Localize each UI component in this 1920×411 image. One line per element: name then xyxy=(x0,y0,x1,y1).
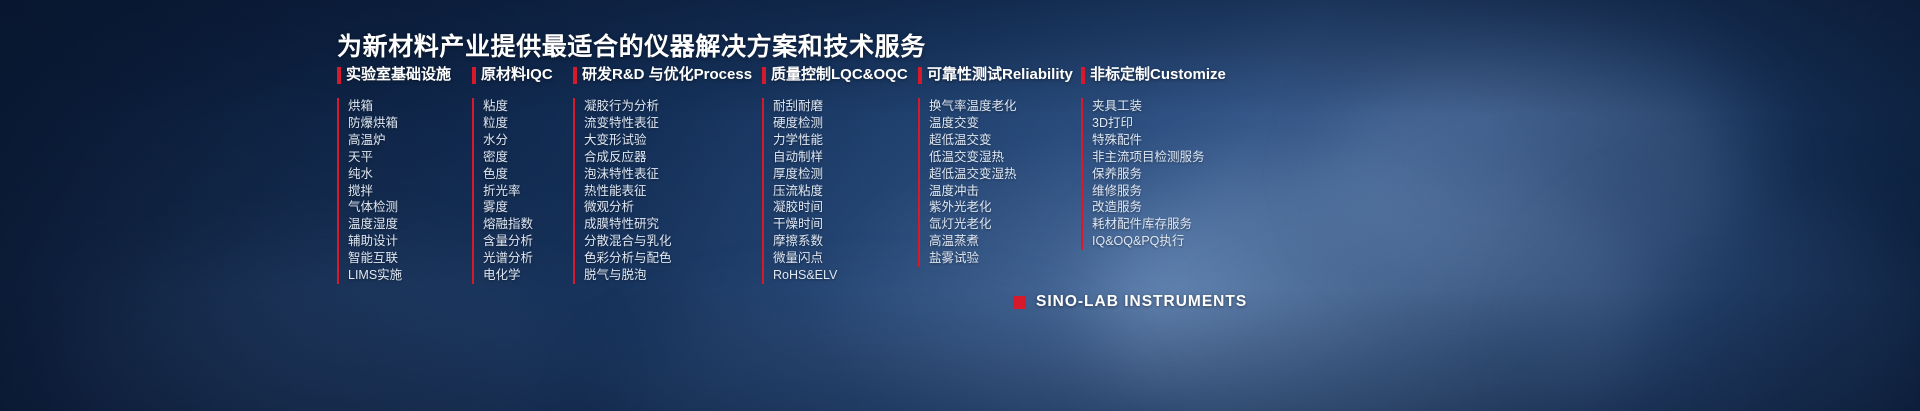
list-item[interactable]: 氙灯光老化 xyxy=(929,216,1081,233)
list-item[interactable]: 特殊配件 xyxy=(1092,132,1261,149)
list-item[interactable]: 保养服务 xyxy=(1092,166,1261,183)
category-column-quality-control: 质量控制LQC&OQC 耐刮耐磨 硬度检测 力学性能 自动制样 厚度检测 压流粘… xyxy=(762,66,918,284)
list-item[interactable]: LIMS实施 xyxy=(348,267,472,284)
category-column-customize: 非标定制Customize 夹具工装 3D打印 特殊配件 非主流项目检测服务 保… xyxy=(1081,66,1261,284)
list-item[interactable]: 热性能表征 xyxy=(584,183,762,200)
list-item[interactable]: 凝胶时间 xyxy=(773,199,918,216)
category-item-list: 凝胶行为分析 流变特性表征 大变形试验 合成反应器 泡沫特性表征 热性能表征 微… xyxy=(573,98,762,284)
list-item[interactable]: 微观分析 xyxy=(584,199,762,216)
list-item[interactable]: 水分 xyxy=(483,132,573,149)
list-item[interactable]: 光谱分析 xyxy=(483,250,573,267)
category-item-list: 换气率温度老化 温度交变 超低温交变 低温交变湿热 超低温交变湿热 温度冲击 紫… xyxy=(918,98,1081,267)
category-item-list: 夹具工装 3D打印 特殊配件 非主流项目检测服务 保养服务 维修服务 改造服务 … xyxy=(1081,98,1261,250)
list-item[interactable]: 超低温交变 xyxy=(929,132,1081,149)
list-item[interactable]: 低温交变湿热 xyxy=(929,149,1081,166)
list-item[interactable]: 压流粘度 xyxy=(773,183,918,200)
marketing-banner: 为新材料产业提供最适合的仪器解决方案和技术服务 实验室基础设施 烘箱 防爆烘箱 … xyxy=(0,0,1920,411)
list-item[interactable]: 折光率 xyxy=(483,183,573,200)
list-item[interactable]: 含量分析 xyxy=(483,233,573,250)
list-item[interactable]: 3D打印 xyxy=(1092,115,1261,132)
list-item[interactable]: 防爆烘箱 xyxy=(348,115,472,132)
list-item[interactable]: 电化学 xyxy=(483,267,573,284)
list-item[interactable]: 盐雾试验 xyxy=(929,250,1081,267)
category-header: 实验室基础设施 xyxy=(337,66,472,84)
list-item[interactable]: 智能互联 xyxy=(348,250,472,267)
list-item[interactable]: 分散混合与乳化 xyxy=(584,233,762,250)
category-header: 研发R&D 与优化Process xyxy=(573,66,762,84)
banner-headline: 为新材料产业提供最适合的仪器解决方案和技术服务 xyxy=(337,27,926,63)
banner-content: 为新材料产业提供最适合的仪器解决方案和技术服务 实验室基础设施 烘箱 防爆烘箱 … xyxy=(0,0,1920,411)
list-item[interactable]: 雾度 xyxy=(483,199,573,216)
list-item[interactable]: RoHS&ELV xyxy=(773,267,918,284)
list-item[interactable]: 凝胶行为分析 xyxy=(584,98,762,115)
list-item[interactable]: 烘箱 xyxy=(348,98,472,115)
list-item[interactable]: 高温蒸煮 xyxy=(929,233,1081,250)
list-item[interactable]: 粘度 xyxy=(483,98,573,115)
category-item-list: 烘箱 防爆烘箱 高温炉 天平 纯水 搅拌 气体检测 温度湿度 辅助设计 智能互联… xyxy=(337,98,472,284)
square-mark-icon xyxy=(1013,296,1026,309)
list-item[interactable]: 天平 xyxy=(348,149,472,166)
category-item-list: 耐刮耐磨 硬度检测 力学性能 自动制样 厚度检测 压流粘度 凝胶时间 干燥时间 … xyxy=(762,98,918,284)
category-column-reliability: 可靠性测试Reliability 换气率温度老化 温度交变 超低温交变 低温交变… xyxy=(918,66,1081,284)
list-item[interactable]: 耗材配件库存服务 xyxy=(1092,216,1261,233)
list-item[interactable]: 密度 xyxy=(483,149,573,166)
list-item[interactable]: 厚度检测 xyxy=(773,166,918,183)
list-item[interactable]: 超低温交变湿热 xyxy=(929,166,1081,183)
list-item[interactable]: 泡沫特性表征 xyxy=(584,166,762,183)
list-item[interactable]: 改造服务 xyxy=(1092,199,1261,216)
list-item[interactable]: 耐刮耐磨 xyxy=(773,98,918,115)
list-item[interactable]: 摩擦系数 xyxy=(773,233,918,250)
list-item[interactable]: IQ&OQ&PQ执行 xyxy=(1092,233,1261,250)
service-category-columns: 实验室基础设施 烘箱 防爆烘箱 高温炉 天平 纯水 搅拌 气体检测 温度湿度 辅… xyxy=(337,66,1261,284)
list-item[interactable]: 色彩分析与配色 xyxy=(584,250,762,267)
category-header: 质量控制LQC&OQC xyxy=(762,66,918,84)
list-item[interactable]: 高温炉 xyxy=(348,132,472,149)
list-item[interactable]: 流变特性表征 xyxy=(584,115,762,132)
list-item[interactable]: 硬度检测 xyxy=(773,115,918,132)
category-column-lab-infrastructure: 实验室基础设施 烘箱 防爆烘箱 高温炉 天平 纯水 搅拌 气体检测 温度湿度 辅… xyxy=(337,66,472,284)
category-header: 可靠性测试Reliability xyxy=(918,66,1081,84)
list-item[interactable]: 非主流项目检测服务 xyxy=(1092,149,1261,166)
list-item[interactable]: 色度 xyxy=(483,166,573,183)
list-item[interactable]: 维修服务 xyxy=(1092,183,1261,200)
list-item[interactable]: 熔融指数 xyxy=(483,216,573,233)
list-item[interactable]: 紫外光老化 xyxy=(929,199,1081,216)
list-item[interactable]: 成膜特性研究 xyxy=(584,216,762,233)
list-item[interactable]: 辅助设计 xyxy=(348,233,472,250)
brand-name: SINO-LAB INSTRUMENTS xyxy=(1036,293,1247,311)
category-header: 原材料IQC xyxy=(472,66,573,84)
list-item[interactable]: 脱气与脱泡 xyxy=(584,267,762,284)
list-item[interactable]: 自动制样 xyxy=(773,149,918,166)
list-item[interactable]: 换气率温度老化 xyxy=(929,98,1081,115)
list-item[interactable]: 粒度 xyxy=(483,115,573,132)
category-column-rd-process: 研发R&D 与优化Process 凝胶行为分析 流变特性表征 大变形试验 合成反… xyxy=(573,66,762,284)
list-item[interactable]: 温度湿度 xyxy=(348,216,472,233)
list-item[interactable]: 夹具工装 xyxy=(1092,98,1261,115)
list-item[interactable]: 大变形试验 xyxy=(584,132,762,149)
list-item[interactable]: 纯水 xyxy=(348,166,472,183)
list-item[interactable]: 干燥时间 xyxy=(773,216,918,233)
list-item[interactable]: 温度冲击 xyxy=(929,183,1081,200)
category-header: 非标定制Customize xyxy=(1081,66,1261,84)
category-item-list: 粘度 粒度 水分 密度 色度 折光率 雾度 熔融指数 含量分析 光谱分析 电化学 xyxy=(472,98,573,284)
list-item[interactable]: 气体检测 xyxy=(348,199,472,216)
list-item[interactable]: 力学性能 xyxy=(773,132,918,149)
list-item[interactable]: 温度交变 xyxy=(929,115,1081,132)
category-column-raw-material-iqc: 原材料IQC 粘度 粒度 水分 密度 色度 折光率 雾度 熔融指数 含量分析 光… xyxy=(472,66,573,284)
list-item[interactable]: 搅拌 xyxy=(348,183,472,200)
list-item[interactable]: 合成反应器 xyxy=(584,149,762,166)
list-item[interactable]: 微量闪点 xyxy=(773,250,918,267)
brand-logo: SINO-LAB INSTRUMENTS xyxy=(1013,293,1247,311)
